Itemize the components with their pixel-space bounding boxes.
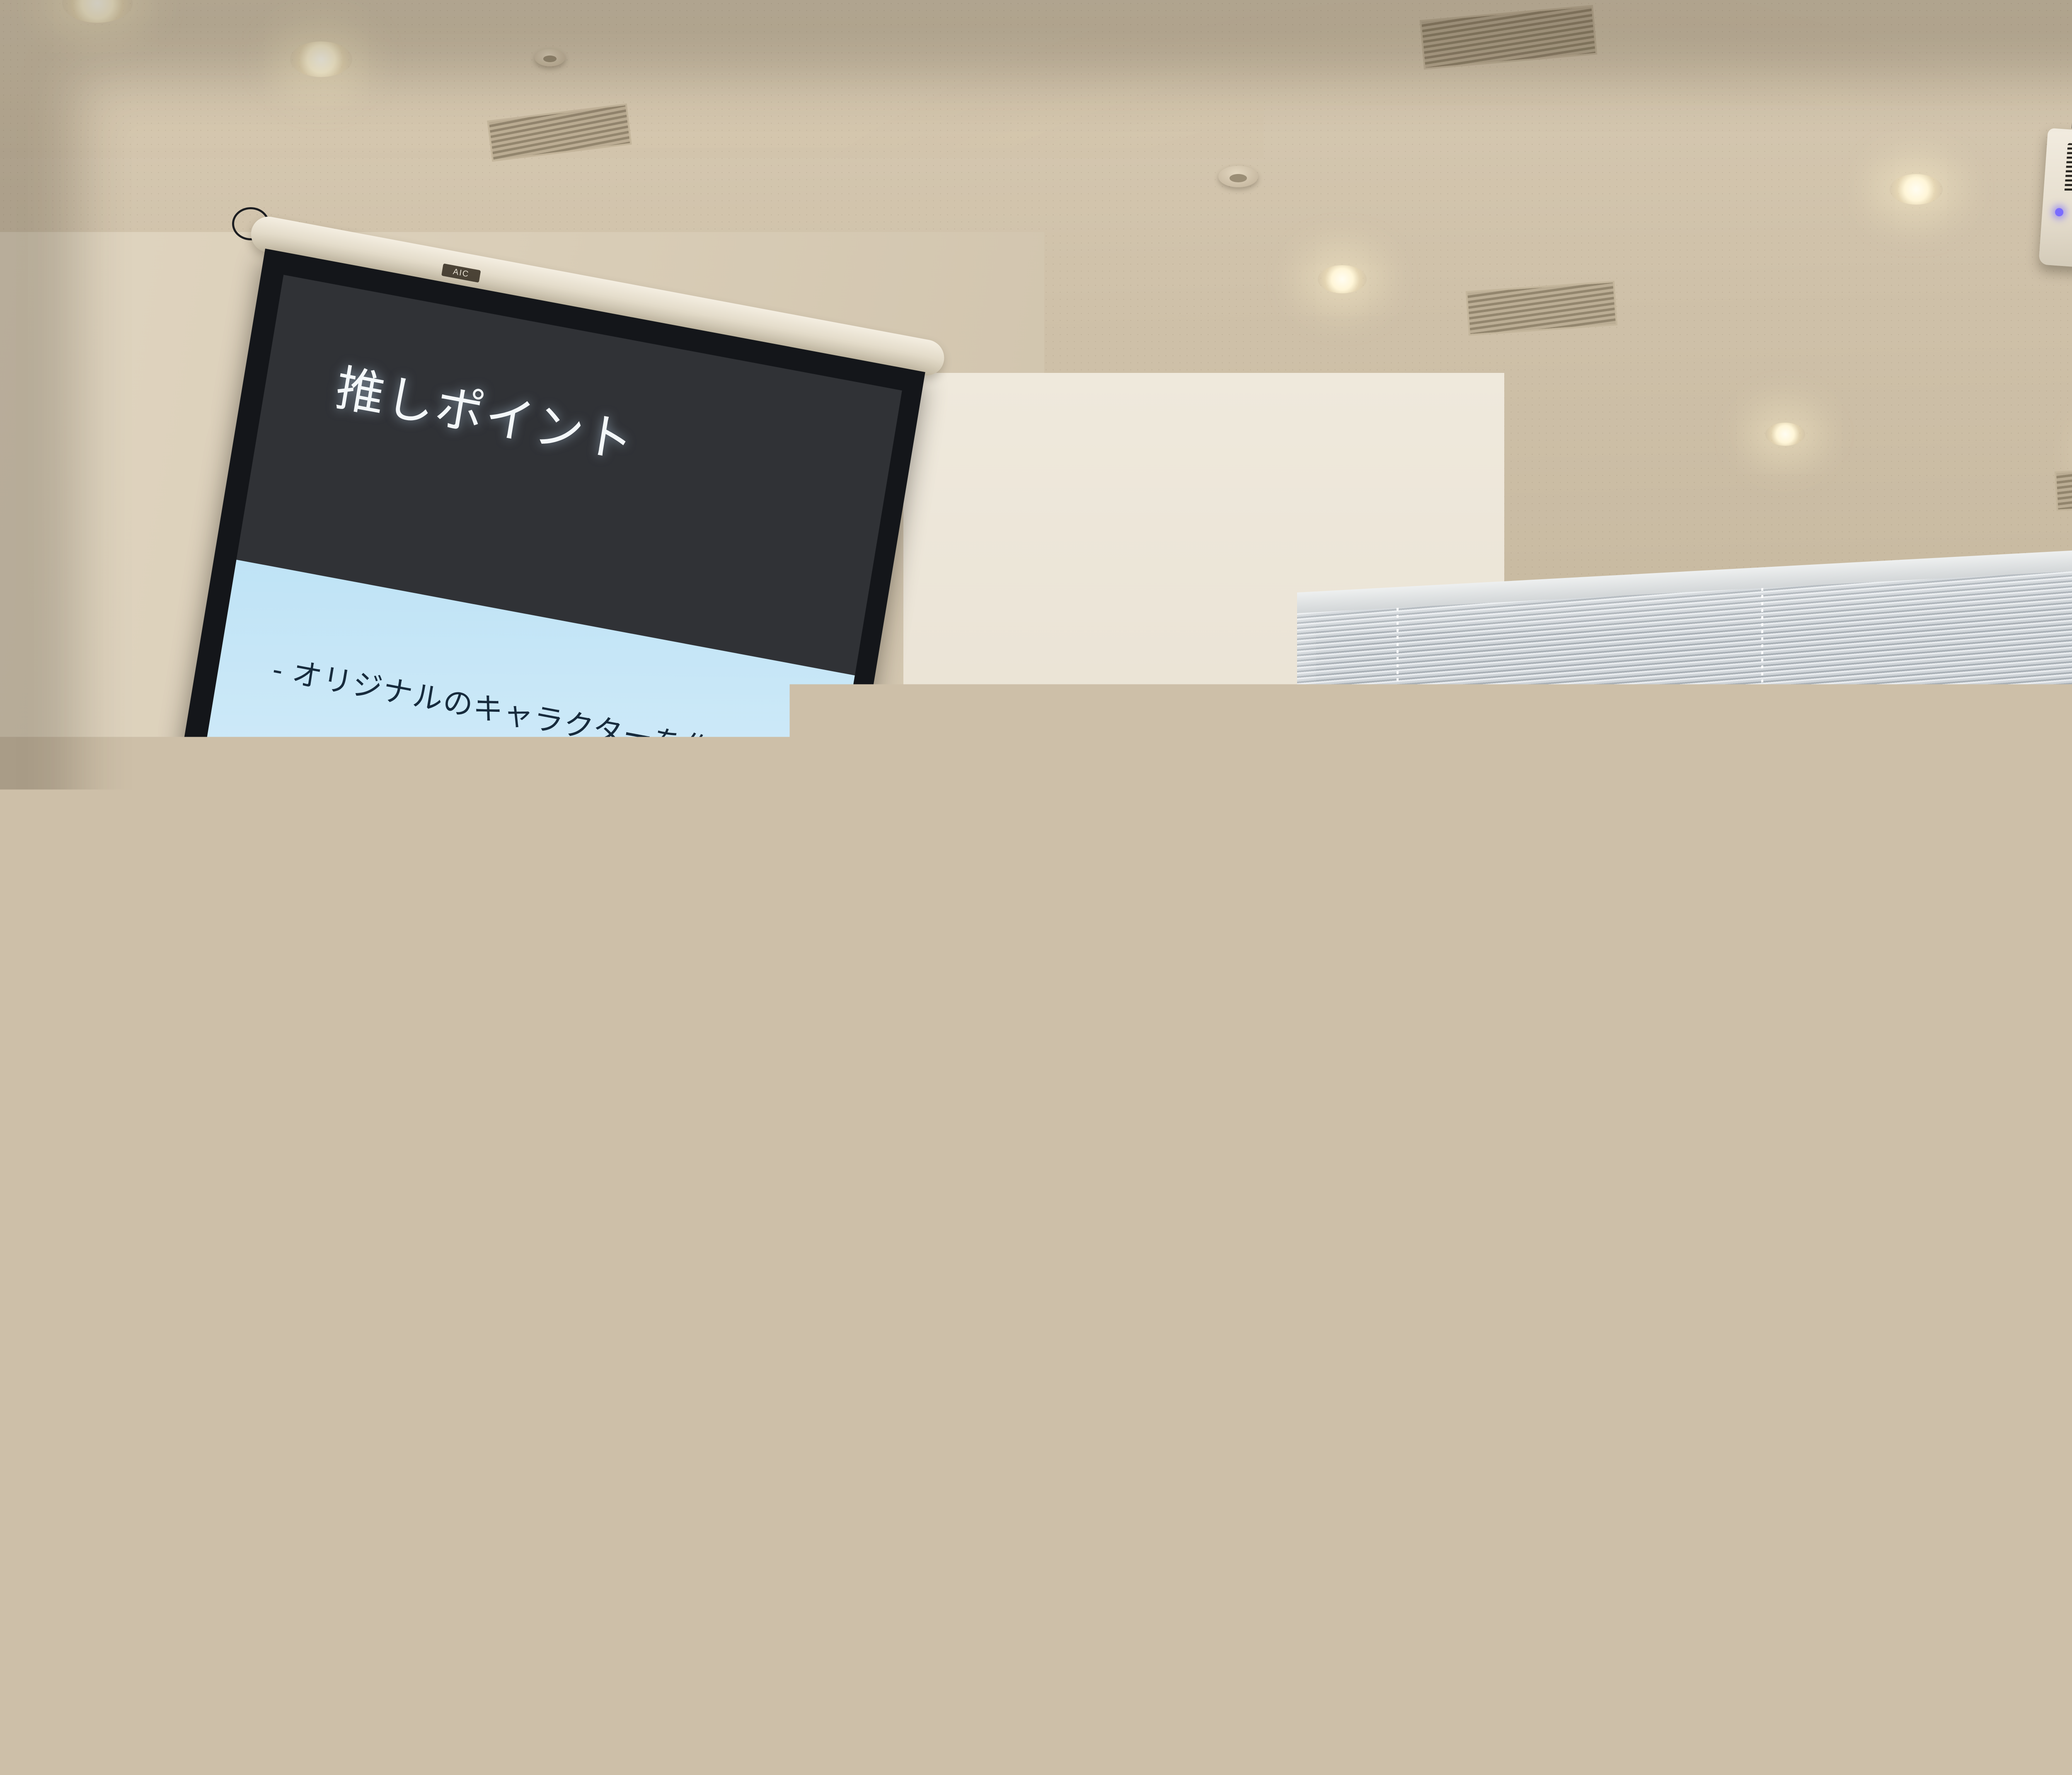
ceiling-downlight	[290, 41, 352, 77]
drink-bottle[interactable]	[1807, 1210, 1848, 1318]
star-icon	[733, 906, 756, 931]
bottle-cap	[1128, 1250, 1159, 1267]
bottle-neck	[1129, 1265, 1158, 1284]
bottle-neck	[1754, 1274, 1779, 1292]
wristwatch-icon	[1796, 1127, 1830, 1147]
ceiling-downlight	[1765, 423, 1805, 446]
drink-bottle[interactable]	[1906, 1251, 1952, 1367]
laptop-sleeve	[1792, 1443, 1995, 1523]
chair-handle-slot	[807, 1701, 1016, 1730]
lanyard-icon	[1048, 982, 1121, 1077]
presentation-slide: 推しポイント - オリジナルのキャラクターを作成した - シンプルで使いやすい	[166, 275, 902, 1103]
hand	[1794, 1086, 1840, 1131]
bottle-cap	[1915, 1237, 1943, 1255]
screen-brand-label: AIC	[441, 264, 481, 283]
smoke-detector-icon	[1218, 166, 1258, 187]
bottle-neck	[1815, 1212, 1840, 1230]
chair[interactable]	[737, 1453, 1078, 1754]
glasses-icon	[1692, 1063, 1753, 1085]
bottle-cap	[1900, 1565, 1934, 1582]
ceiling-downlight	[1890, 174, 1943, 205]
bottle-neck	[1901, 1580, 1932, 1598]
screen-frame: 推しポイント - オリジナルのキャラクターを作成した - シンプルで使いやすい	[138, 249, 925, 1141]
lanyard-icon	[1167, 987, 1250, 1103]
hair	[1038, 896, 1124, 942]
ceiling-downlight	[1318, 265, 1367, 293]
mascot-image-card: 今日も1日頑張りましょう	[603, 748, 825, 1011]
face	[1996, 1047, 2054, 1113]
conference-room-photo: NEC AIC 推しポイント - オリジナルのキャラクターを作成した	[0, 0, 2072, 1775]
hair	[804, 953, 1044, 1202]
hair	[1305, 1011, 1537, 1247]
face	[1813, 1012, 1876, 1081]
bottle-cap	[1169, 1233, 1200, 1250]
backpack	[1837, 1676, 2072, 1775]
drink-bottle[interactable]	[1745, 1272, 1788, 1376]
hvac-vent	[2055, 465, 2072, 511]
chair[interactable]	[1527, 1455, 1727, 1619]
chair-handle-slot	[1324, 1729, 1548, 1755]
bottle-neck	[1916, 1253, 1942, 1271]
projector-vent-icon	[2064, 143, 2072, 206]
smoke-detector-icon	[535, 49, 565, 66]
projection-screen: AIC 推しポイント - オリジナルのキャラクターを作成した - シンプルで使い…	[135, 249, 925, 1161]
mascot-leg	[683, 892, 702, 914]
drink-bottle[interactable]	[1119, 1264, 1169, 1384]
hair-fringe	[1150, 892, 1251, 942]
projector-power-led-icon	[2055, 208, 2063, 217]
bottle-cap	[1815, 1196, 1840, 1213]
desk-leg	[1732, 1442, 1738, 1579]
bottle-neck	[1171, 1249, 1199, 1267]
mascot-character-icon	[656, 785, 779, 931]
paper-sheets	[1214, 1117, 1322, 1147]
mascot-leg	[713, 898, 733, 919]
bottle-label: 特茶	[1899, 1635, 1934, 1683]
drink-bottle[interactable]: 特茶	[1890, 1579, 1944, 1719]
bottle-cap	[1753, 1258, 1779, 1275]
